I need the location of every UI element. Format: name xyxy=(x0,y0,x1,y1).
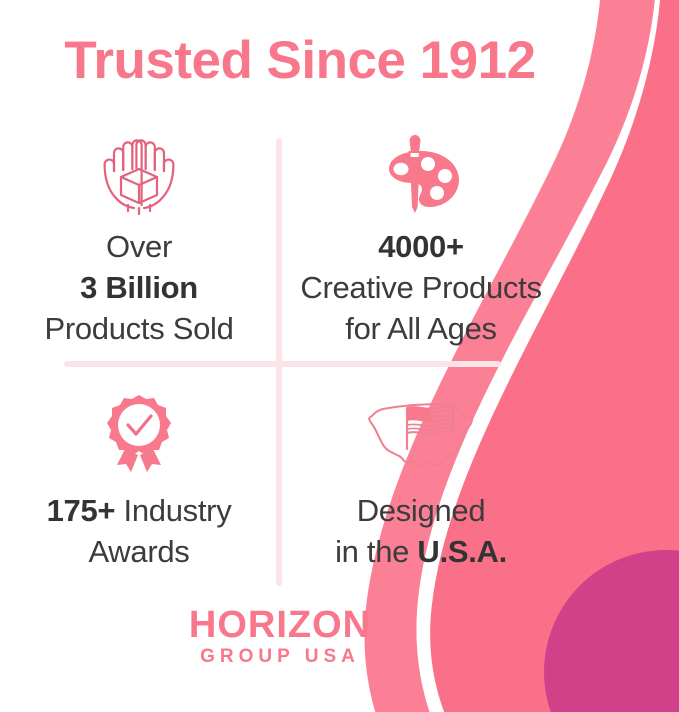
feature-line: 175+ Industry xyxy=(47,490,232,531)
feature-line-bold: 175+ xyxy=(47,493,116,528)
palette-well xyxy=(430,186,444,200)
feature-line: Over xyxy=(44,226,233,267)
feature-line: Products Sold xyxy=(44,308,233,349)
headline-title: Trusted Since 1912 xyxy=(0,30,600,91)
feature-line-bold: 4000+ xyxy=(300,226,541,267)
palette-thumb-hole xyxy=(394,163,409,175)
feature-line-bold: U.S.A. xyxy=(417,534,507,569)
feature-products-sold: Over 3 Billion Products Sold xyxy=(0,132,278,350)
magenta-corner-circle xyxy=(544,550,679,712)
feature-line: Creative Products xyxy=(300,267,541,308)
ribbon-tails xyxy=(117,449,161,472)
divider-horizontal xyxy=(64,361,501,367)
feature-designed-in-usa: Designed in the U.S.A. xyxy=(282,392,560,572)
usa-map-flag-icon xyxy=(361,392,481,476)
feature-line: Designed xyxy=(335,490,507,531)
feature-line: for All Ages xyxy=(300,308,541,349)
feature-creative-products-text: 4000+ Creative Products for All Ages xyxy=(300,226,541,350)
palette-well xyxy=(421,157,435,171)
feature-line: Awards xyxy=(47,531,232,572)
award-ribbon-check-icon xyxy=(97,392,181,476)
feature-line-part: Industry xyxy=(115,493,231,528)
brand-logo-secondary: GROUP USA xyxy=(0,647,560,666)
feature-industry-awards: 175+ Industry Awards xyxy=(0,392,278,572)
flag-canton xyxy=(407,407,431,421)
feature-line-bold: 3 Billion xyxy=(44,267,233,308)
feature-line: in the U.S.A. xyxy=(335,531,507,572)
paint-brush xyxy=(410,135,421,213)
infographic-canvas: Trusted Since 1912 xyxy=(0,0,679,712)
hands-holding-box-icon xyxy=(86,132,192,218)
rosette-inner xyxy=(118,404,160,446)
brand-logo: HORIZON GROUP USA xyxy=(0,606,560,666)
feature-designed-in-usa-text: Designed in the U.S.A. xyxy=(335,490,507,572)
paint-palette-brush-icon xyxy=(375,132,467,218)
feature-industry-awards-text: 175+ Industry Awards xyxy=(47,490,232,572)
feature-creative-products: 4000+ Creative Products for All Ages xyxy=(282,132,560,350)
brand-logo-primary: HORIZON xyxy=(0,606,560,644)
palette-well xyxy=(438,169,452,183)
feature-products-sold-text: Over 3 Billion Products Sold xyxy=(44,226,233,350)
feature-line-part: in the xyxy=(335,534,417,569)
